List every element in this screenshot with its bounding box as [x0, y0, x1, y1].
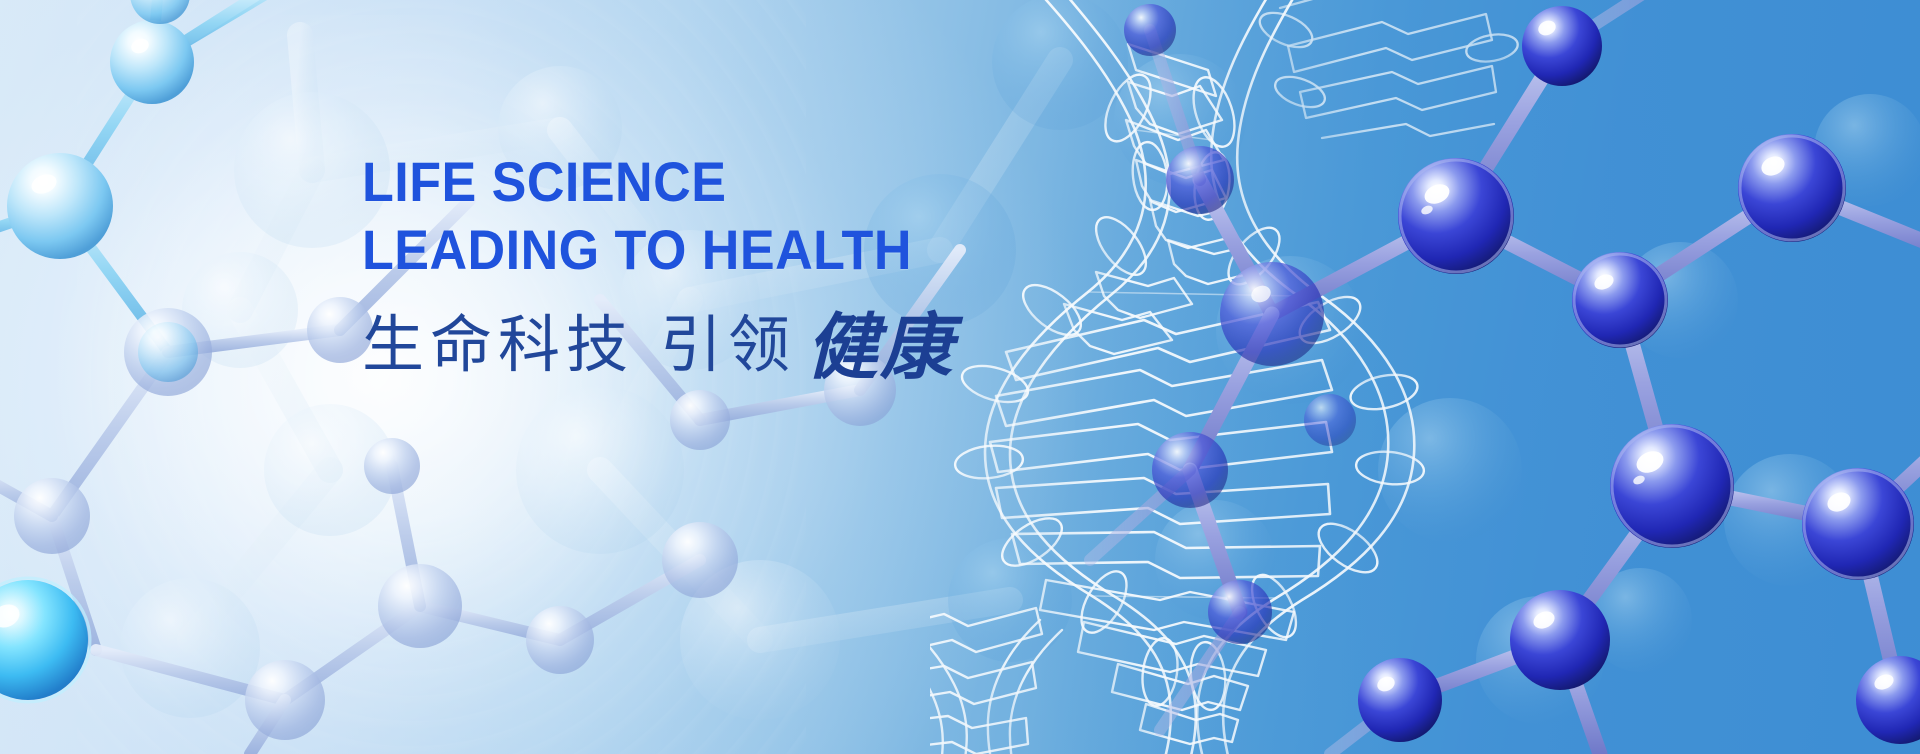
- banner-root: LIFE SCIENCE LEADING TO HEALTH 生命科技 引领 健…: [0, 0, 1920, 754]
- headline-chinese-part2: 引领: [660, 315, 796, 377]
- headline-block: LIFE SCIENCE LEADING TO HEALTH 生命科技 引领 健…: [362, 148, 954, 377]
- headline-chinese-part1: 生命科技: [362, 315, 634, 377]
- headline-chinese: 生命科技 引领 健康: [362, 305, 954, 377]
- right-molecule-lattice: [0, 0, 1920, 754]
- headline-english-line2: LEADING TO HEALTH: [362, 216, 913, 284]
- headline-english-line1: LIFE SCIENCE: [362, 148, 913, 216]
- headline-chinese-part3: 健康: [806, 311, 954, 383]
